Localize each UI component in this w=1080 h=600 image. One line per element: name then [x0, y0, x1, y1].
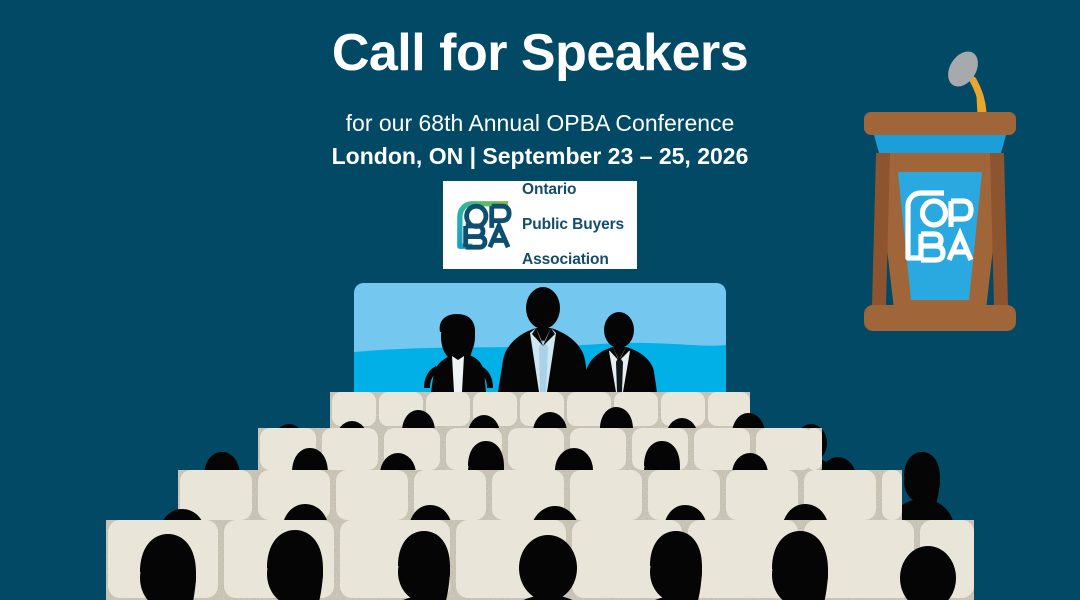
opba-logo-wordmark: Ontario Public Buyers Association	[522, 164, 624, 287]
poster-canvas: Call for Speakers for our 68th Annual OP…	[0, 0, 1080, 600]
page-title: Call for Speakers	[0, 22, 1080, 84]
opba-logo-mark-icon	[455, 197, 513, 253]
opba-name-line-1: Ontario	[522, 181, 624, 199]
poster-artwork	[0, 0, 1080, 600]
opba-name-line-3: Association	[522, 251, 624, 269]
opba-name-line-2: Public Buyers	[522, 216, 624, 234]
podium-base	[864, 305, 1016, 331]
conference-subtitle: for our 68th Annual OPBA Conference	[0, 108, 1080, 138]
opba-logo-card: Ontario Public Buyers Association	[443, 181, 637, 269]
